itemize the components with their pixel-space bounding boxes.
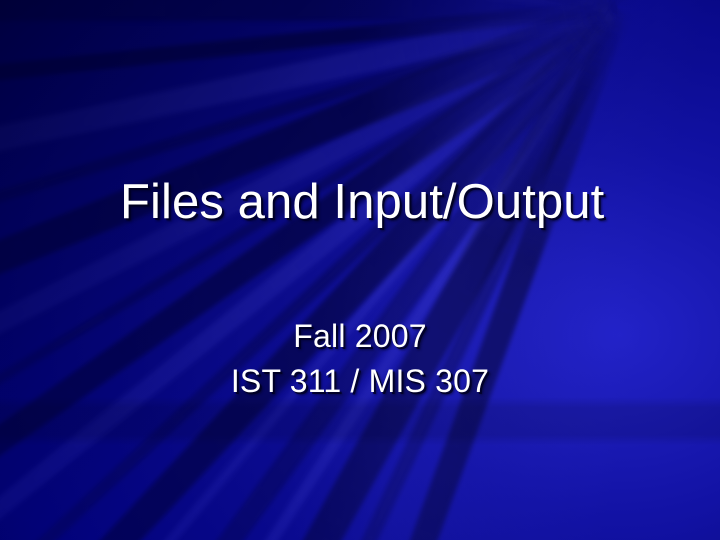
slide-subtitle: Fall 2007 IST 311 / MIS 307 (90, 314, 630, 404)
presentation-title-slide: Files and Input/Output Fall 2007 IST 311… (0, 0, 720, 540)
slide-subtitle-line-course: IST 311 / MIS 307 (90, 359, 630, 404)
slide-subtitle-line-term: Fall 2007 (90, 314, 630, 359)
slide-title: Files and Input/Output (120, 173, 610, 231)
slide-text-layer: Files and Input/Output Fall 2007 IST 311… (0, 0, 720, 540)
